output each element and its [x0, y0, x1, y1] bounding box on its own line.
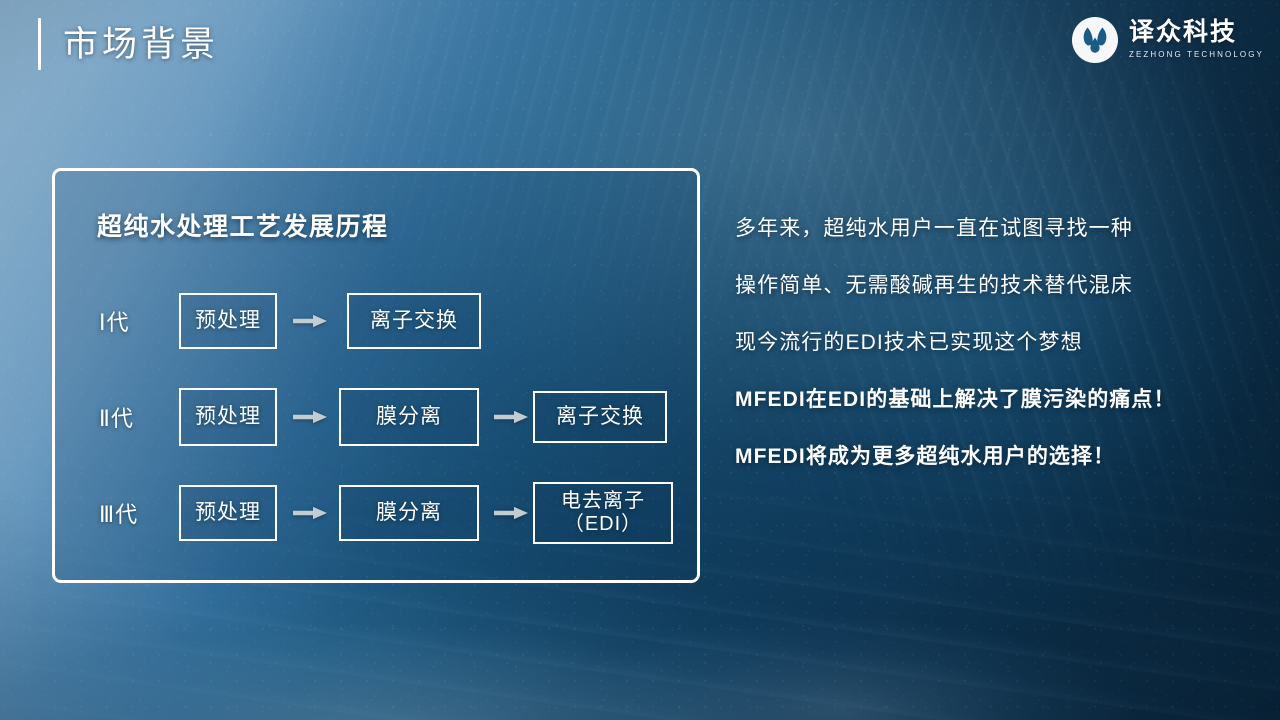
flow-arrow-icon: [494, 507, 528, 520]
narrative-line-3: 现今流行的EDI技术已实现这个梦想: [735, 332, 1255, 353]
page-title-group: 市场背景: [38, 18, 219, 70]
flow-row-gen1: Ⅰ代 预处理 离子交换: [55, 273, 697, 369]
flow-arrow-icon: [293, 315, 327, 328]
flow-arrow-icon: [494, 411, 528, 424]
generation-label-3: Ⅲ代: [99, 497, 138, 529]
narrative-keyword: MFEDI: [735, 388, 806, 411]
process-node-gen2-1[interactable]: 预处理: [179, 388, 277, 446]
process-node-gen3-1[interactable]: 预处理: [179, 485, 277, 541]
flow-arrow-icon: [293, 411, 327, 424]
brand-name-en: ZEZHONG TECHNOLOGY: [1129, 51, 1264, 59]
brand-name-cn: 译众科技: [1129, 20, 1237, 45]
slide-root: 市场背景 译众科技 ZEZHONG TECHNOLOGY 超纯水处理工艺发展历程…: [0, 0, 1280, 720]
process-node-gen1-1[interactable]: 预处理: [179, 293, 277, 349]
process-node-gen3-3[interactable]: 电去离子 （EDI）: [533, 482, 673, 544]
brand-logo: 译众科技 ZEZHONG TECHNOLOGY: [1071, 16, 1264, 64]
brand-logo-text: 译众科技 ZEZHONG TECHNOLOGY: [1129, 20, 1264, 61]
panel-title: 超纯水处理工艺发展历程: [97, 207, 389, 243]
slide-header: 市场背景 译众科技 ZEZHONG TECHNOLOGY: [0, 0, 1280, 96]
flow-row-gen2: Ⅱ代 预处理 膜分离 离子交换: [55, 369, 697, 465]
narrative-line-5: MFEDI将成为更多超纯水用户的选择！: [735, 446, 1255, 467]
title-accent-bar: [38, 18, 41, 70]
generation-label-1: Ⅰ代: [99, 305, 130, 337]
narrative-line-1: 多年来，超纯水用户一直在试图寻找一种: [735, 218, 1255, 239]
process-node-gen3-2[interactable]: 膜分离: [339, 485, 479, 541]
flow-arrow-icon: [293, 507, 327, 520]
narrative-keyword: MFEDI: [735, 445, 806, 468]
page-title: 市场背景: [63, 27, 219, 62]
process-node-gen1-2[interactable]: 离子交换: [347, 293, 481, 349]
process-node-gen2-3[interactable]: 离子交换: [533, 391, 667, 443]
water-drop-leaf-logo-icon: [1071, 16, 1119, 64]
narrative-line-4: MFEDI在EDI的基础上解决了膜污染的痛点！: [735, 389, 1255, 410]
narrative-text-block: 多年来，超纯水用户一直在试图寻找一种 操作简单、无需酸碱再生的技术替代混床 现今…: [735, 218, 1255, 503]
process-node-gen2-2[interactable]: 膜分离: [339, 388, 479, 446]
process-history-panel: 超纯水处理工艺发展历程 Ⅰ代 预处理 离子交换 Ⅱ代 预处理 膜分离: [52, 168, 700, 583]
flow-row-gen3: Ⅲ代 预处理 膜分离 电去离子 （EDI）: [55, 465, 697, 561]
generation-label-2: Ⅱ代: [99, 401, 134, 433]
flow-rows: Ⅰ代 预处理 离子交换 Ⅱ代 预处理 膜分离 离子交换: [55, 273, 697, 561]
narrative-line-2: 操作简单、无需酸碱再生的技术替代混床: [735, 275, 1255, 296]
